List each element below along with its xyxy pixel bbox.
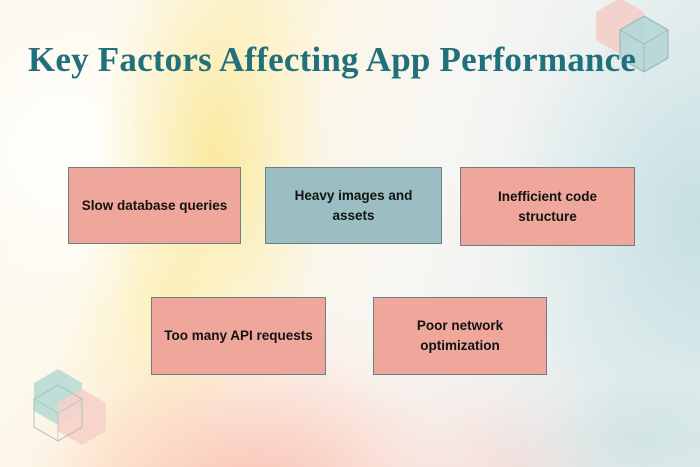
factor-box-too-many-api-requests[interactable]: Too many API requests xyxy=(151,297,326,375)
factor-box-label: Poor network optimization xyxy=(384,316,536,355)
factor-box-slow-database-queries[interactable]: Slow database queries xyxy=(68,167,241,244)
page-title: Key Factors Affecting App Performance xyxy=(28,40,636,80)
hexagon-cluster-bottom-left-icon xyxy=(22,363,132,467)
factor-box-label: Inefficient code structure xyxy=(471,187,624,226)
slide-canvas: Key Factors Affecting App Performance Sl… xyxy=(0,0,700,467)
factor-box-label: Slow database queries xyxy=(82,196,228,216)
factor-box-heavy-images-and-assets[interactable]: Heavy images and assets xyxy=(265,167,442,244)
factor-box-poor-network-optimization[interactable]: Poor network optimization xyxy=(373,297,547,375)
factor-box-label: Heavy images and assets xyxy=(276,186,431,225)
factor-box-label: Too many API requests xyxy=(164,326,313,346)
factor-box-inefficient-code-structure[interactable]: Inefficient code structure xyxy=(460,167,635,246)
